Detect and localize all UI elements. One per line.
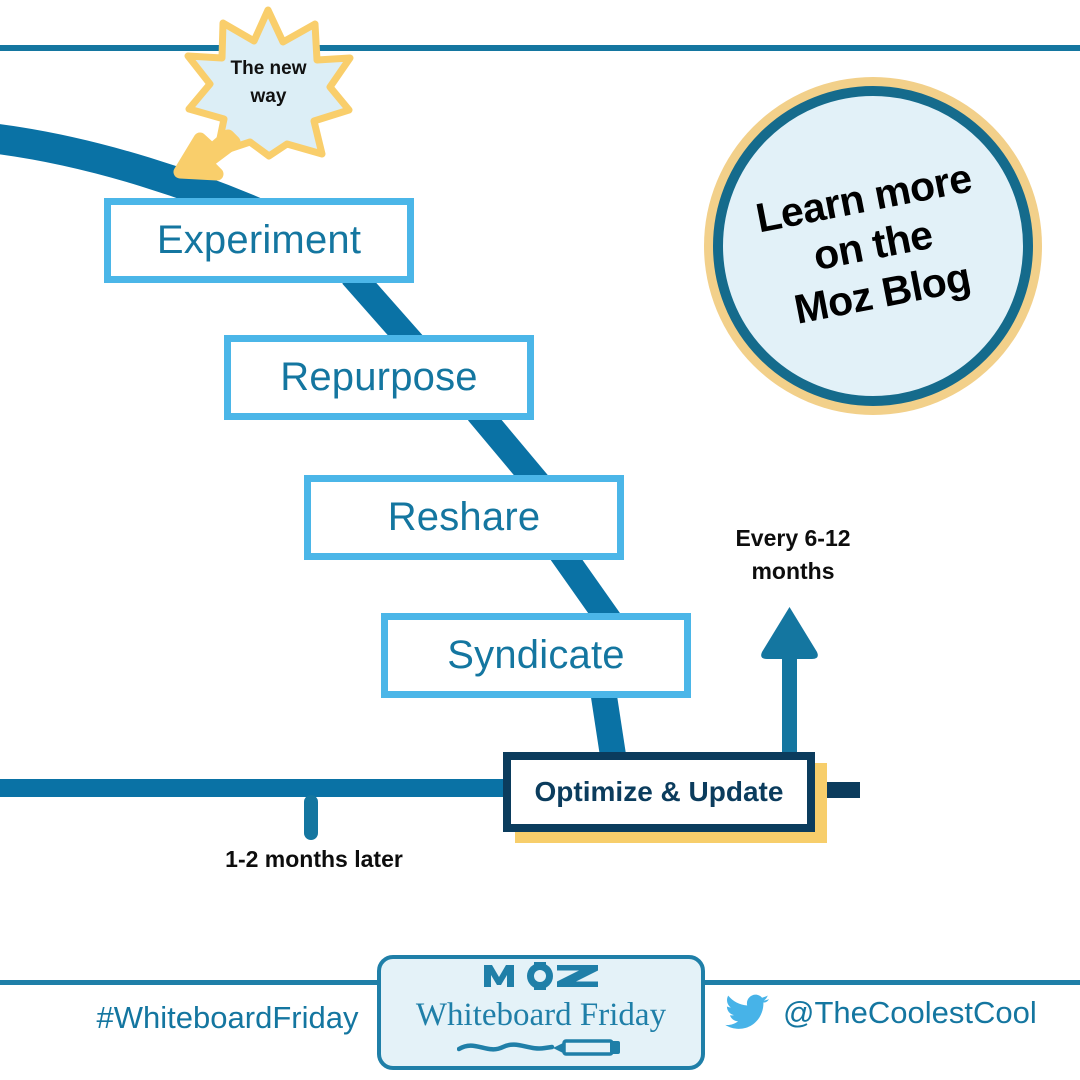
callout-starburst: The new way [186,8,351,158]
callout-line-1: The new [230,55,306,84]
process-step-syndicate[interactable]: Syndicate [381,613,691,698]
process-step-label: Optimize & Update [535,776,784,808]
process-step-label: Syndicate [447,633,624,678]
twitter-handle-label: @TheCoolestCool [783,995,1037,1031]
circle-badge-text: Learn more on the Moz Blog [722,148,1025,344]
cadence-line-1: Every 6-12 [700,522,886,555]
top-divider-line [0,45,1080,51]
timeline-tick-mark [304,795,318,840]
process-step-repurpose[interactable]: Repurpose [224,335,534,420]
callout-starburst-text: The new way [186,8,351,158]
process-step-label: Repurpose [280,355,477,400]
process-step-label: Experiment [157,218,361,263]
moz-logo [482,961,600,996]
marker-squiggle-icon [457,1037,625,1062]
callout-line-2: way [251,83,287,112]
moz-logo-icon [482,961,600,991]
whiteboard-friday-infographic: Experiment Repurpose Reshare Syndicate O… [0,0,1080,1080]
timeline-tick-annotation: 1-2 months later [190,846,438,873]
whiteboard-friday-badge[interactable]: Whiteboard Friday [377,955,705,1070]
process-step-optimize-update[interactable]: Optimize & Update [503,752,815,832]
learn-more-circle-badge[interactable]: Learn more on the Moz Blog [713,86,1033,406]
twitter-bird-icon [725,994,769,1032]
process-step-reshare[interactable]: Reshare [304,475,624,560]
footer-divider-right [702,980,1080,985]
cadence-line-2: months [700,555,886,588]
timeline-line-left [0,779,515,797]
process-step-label: Reshare [388,495,541,540]
footer-divider-left [0,980,380,985]
whiteboard-friday-title: Whiteboard Friday [416,999,666,1032]
cadence-annotation: Every 6-12 months [700,522,886,589]
twitter-credit[interactable]: @TheCoolestCool [725,994,1037,1032]
process-step-experiment[interactable]: Experiment [104,198,414,283]
